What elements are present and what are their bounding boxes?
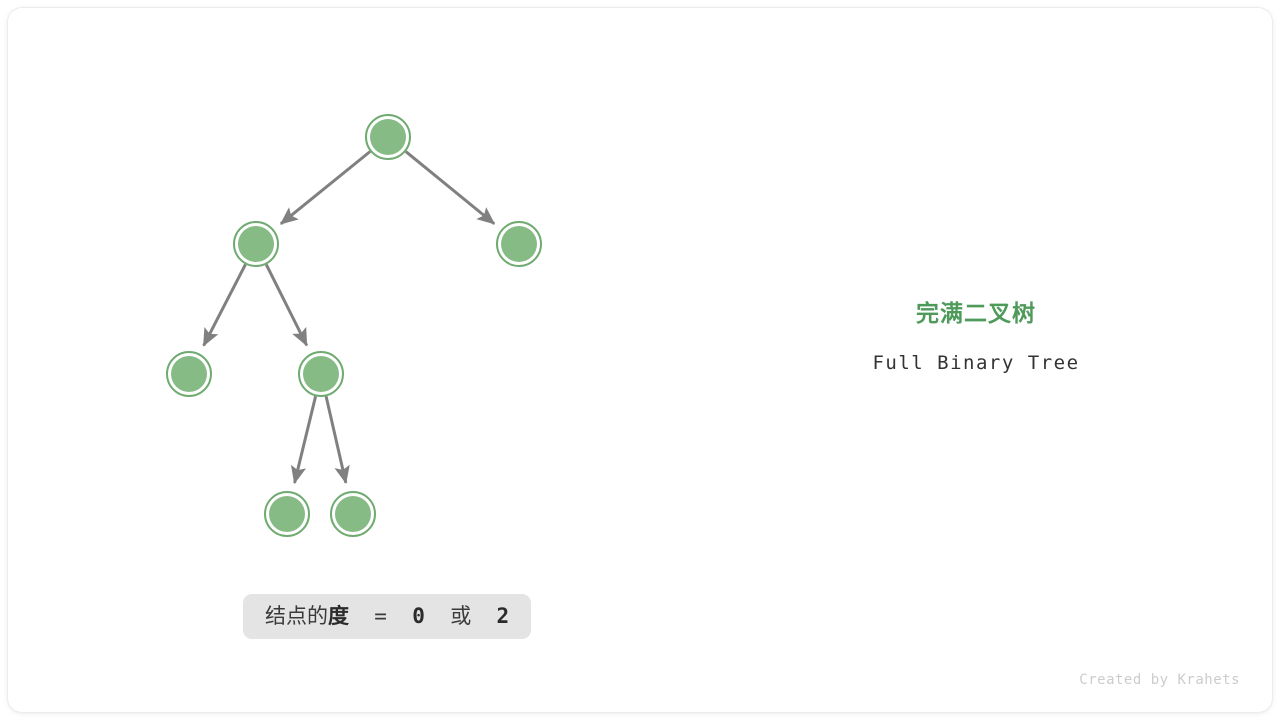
tree-edge <box>266 265 306 346</box>
caption-space-3 <box>471 604 496 628</box>
tree-node-fill <box>238 226 274 262</box>
caption-badge: 结点的度 = 0 或 2 <box>243 594 531 639</box>
tree-node <box>265 492 309 536</box>
tree-edge-layer <box>204 151 495 482</box>
tree-node-fill <box>370 119 406 155</box>
tree-node-fill <box>171 356 207 392</box>
caption-space-1 <box>387 604 412 628</box>
tree-node-fill <box>303 356 339 392</box>
tree-node-fill <box>501 226 537 262</box>
diagram-canvas: 完满二叉树 Full Binary Tree 结点的度 = 0 或 2 Crea… <box>0 0 1280 720</box>
caption-emphasis: 度 <box>328 604 349 628</box>
caption-prefix: 结点的 <box>265 604 328 628</box>
tree-node <box>331 492 375 536</box>
content-card: 完满二叉树 Full Binary Tree 结点的度 = 0 或 2 Crea… <box>8 8 1272 712</box>
tree-edge <box>406 152 494 224</box>
tree-node <box>167 352 211 396</box>
title-english: Full Binary Tree <box>776 352 1176 374</box>
credit-text: Created by Krahets <box>1079 672 1240 688</box>
tree-node <box>366 115 410 159</box>
tree-node <box>234 222 278 266</box>
tree-edge <box>326 396 346 482</box>
tree-node-fill <box>335 496 371 532</box>
tree-edge <box>204 264 246 345</box>
title-chinese: 完满二叉树 <box>776 300 1176 330</box>
caption-conjunction: 或 <box>450 604 471 628</box>
caption-space-2 <box>425 604 450 628</box>
tree-node-layer <box>167 115 541 536</box>
tree-edge <box>295 396 316 483</box>
caption-value-a: 0 <box>412 604 425 628</box>
caption-equals: = <box>374 604 387 628</box>
caption-value-b: 2 <box>497 604 510 628</box>
tree-node-fill <box>269 496 305 532</box>
tree-node <box>299 352 343 396</box>
caption-operator <box>349 604 374 628</box>
tree-node <box>497 222 541 266</box>
tree-edge <box>281 151 370 223</box>
title-block: 完满二叉树 Full Binary Tree <box>776 300 1176 374</box>
